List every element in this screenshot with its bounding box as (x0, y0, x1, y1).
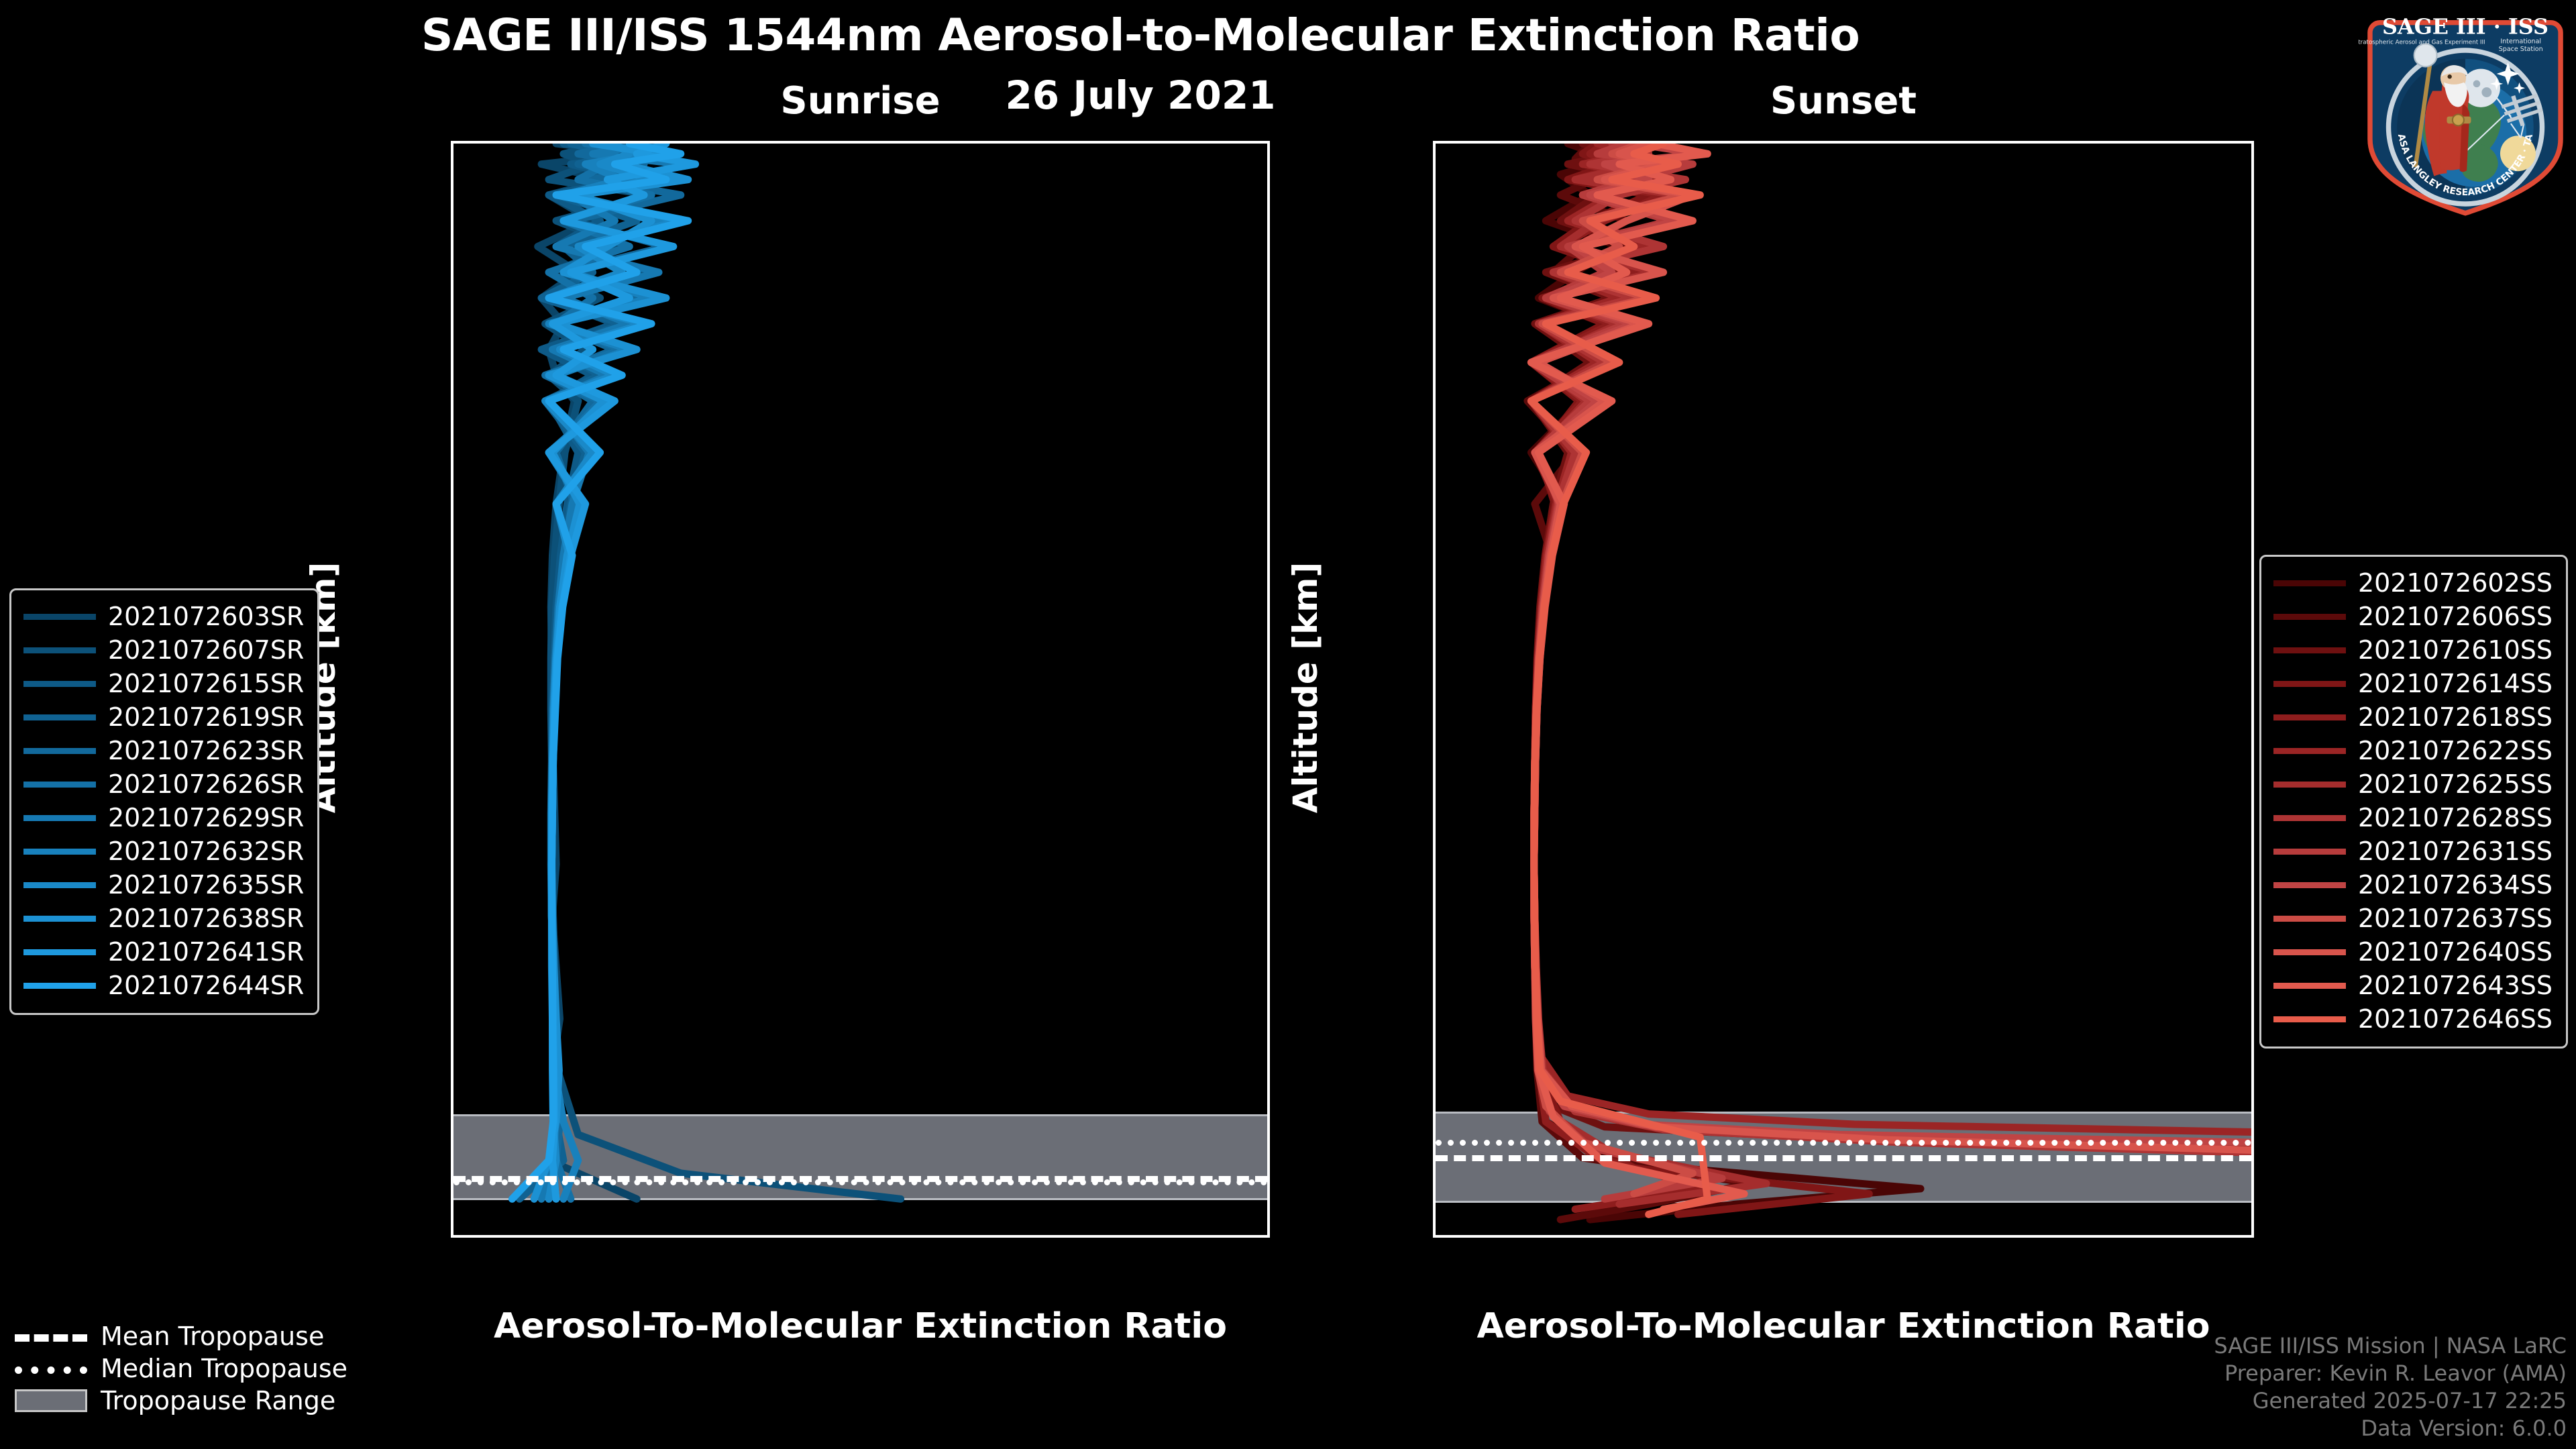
legend-item-label: 2021072606SS (2358, 602, 2553, 631)
legend-item[interactable]: 2021072634SS (2273, 868, 2553, 902)
x-tick-mark (680, 1235, 682, 1238)
legend-color-swatch (2273, 748, 2346, 754)
legend-item[interactable]: 2021072626SR (23, 767, 304, 801)
credit-data-version: Data Version: 6.0.0 (2214, 1415, 2567, 1442)
legend-color-swatch (2273, 849, 2346, 855)
legend-item-label: 2021072610SS (2358, 635, 2553, 665)
legend-item[interactable]: 2021072637SS (2273, 902, 2553, 935)
logo-title: SAGE III · ISS (2382, 15, 2548, 40)
credit-preparer: Preparer: Kevin R. Leavor (AMA) (2214, 1360, 2567, 1387)
credits-block: SAGE III/ISS Mission | NASA LaRC Prepare… (2214, 1332, 2567, 1442)
legend-item[interactable]: 2021072615SR (23, 667, 304, 700)
legend-item[interactable]: 2021072602SS (2273, 566, 2553, 600)
y-tick-mark (1433, 142, 1436, 145)
mean-tropopause-line (1436, 1155, 2251, 1161)
legend-color-swatch (2273, 916, 2346, 922)
mean-tropopause-swatch (15, 1330, 87, 1343)
legend-color-swatch (23, 949, 96, 955)
legend-sunrise-events[interactable]: 2021072603SR2021072607SR2021072615SR2021… (9, 588, 319, 1015)
y-tick-mark (451, 529, 453, 531)
legend-item-label: 2021072635SR (108, 870, 304, 900)
legend-color-swatch (23, 882, 96, 888)
panel-label-sunset: Sunset (1433, 79, 2254, 123)
legend-item-label: 2021072623SR (108, 736, 304, 765)
tropopause-range-label: Tropopause Range (101, 1386, 335, 1415)
logo-subtitle-left: Stratospheric Aerosol and Gas Experiment… (2359, 39, 2485, 46)
y-axis-label-sunset: Altitude [km] (1286, 500, 1325, 875)
legend-item-label: 2021072631SS (2358, 837, 2553, 866)
legend-item[interactable]: 2021072629SR (23, 801, 304, 835)
tropopause-legend-item: Median Tropopause (15, 1352, 347, 1385)
x-tick-mark (1119, 1235, 1122, 1238)
legend-item[interactable]: 2021072614SS (2273, 667, 2553, 700)
profile-curves (1436, 144, 2251, 1235)
legend-item-label: 2021072632SR (108, 837, 304, 866)
y-tick-mark (451, 271, 453, 274)
legend-item-label: 2021072619SR (108, 702, 304, 732)
legend-item-label: 2021072646SS (2358, 1004, 2553, 1034)
legend-item-label: 2021072615SR (108, 669, 304, 698)
series-line (545, 144, 901, 1199)
y-tick-mark (451, 142, 453, 145)
median-tropopause-label: Median Tropopause (101, 1354, 347, 1383)
legend-item[interactable]: 2021072623SR (23, 734, 304, 767)
profile-curves (453, 144, 1267, 1235)
y-tick-mark (1433, 657, 1436, 659)
legend-color-swatch (2273, 1016, 2346, 1022)
x-tick-mark (1662, 1235, 1665, 1238)
legend-color-swatch (23, 647, 96, 653)
legend-color-swatch (23, 748, 96, 754)
legend-item[interactable]: 2021072646SS (2273, 1002, 2553, 1036)
legend-item-label: 2021072602SS (2358, 568, 2553, 598)
y-tick-mark (1433, 1172, 1436, 1175)
legend-color-swatch (2273, 580, 2346, 586)
legend-color-swatch (23, 714, 96, 720)
legend-color-swatch (23, 849, 96, 855)
y-tick-mark (1433, 400, 1436, 402)
legend-item-label: 2021072625SS (2358, 769, 2553, 799)
legend-item[interactable]: 2021072640SS (2273, 935, 2553, 969)
legend-item[interactable]: 2021072638SR (23, 902, 304, 935)
legend-item[interactable]: 2021072610SS (2273, 633, 2553, 667)
y-tick-mark (1433, 529, 1436, 531)
legend-item[interactable]: 2021072632SR (23, 835, 304, 868)
legend-color-swatch (2273, 983, 2346, 989)
legend-item-label: 2021072603SR (108, 602, 304, 631)
median-tropopause-swatch (15, 1362, 87, 1375)
legend-color-swatch (23, 815, 96, 821)
legend-item-label: 2021072622SS (2358, 736, 2553, 765)
legend-item-label: 2021072640SS (2358, 937, 2553, 967)
y-tick-mark (1433, 1043, 1436, 1046)
x-axis-label-sunset: Aerosol-To-Molecular Extinction Ratio (1433, 1306, 2254, 1346)
median-tropopause-line (453, 1179, 1267, 1185)
x-tick-mark (1956, 1235, 1959, 1238)
legend-item-label: 2021072638SR (108, 904, 304, 933)
legend-item-label: 2021072629SR (108, 803, 304, 833)
legend-item[interactable]: 2021072607SR (23, 633, 304, 667)
legend-item[interactable]: 2021072631SS (2273, 835, 2553, 868)
legend-item-label: 2021072614SS (2358, 669, 2553, 698)
legend-item[interactable]: 2021072603SR (23, 600, 304, 633)
legend-color-swatch (2273, 614, 2346, 620)
x-tick-mark (2250, 1235, 2253, 1238)
y-tick-mark (451, 657, 453, 659)
x-tick-mark (2103, 1235, 2106, 1238)
tropopause-legend-item: Mean Tropopause (15, 1320, 347, 1352)
logo-subtitle-right-1: International (2500, 38, 2541, 45)
legend-sunset-events[interactable]: 2021072602SS2021072606SS2021072610SS2021… (2259, 555, 2568, 1049)
plot-area-sunset: 101520253035404550020406080100 (1433, 141, 2254, 1238)
tropopause-legend-item: Tropopause Range (15, 1385, 347, 1417)
legend-color-swatch (2273, 714, 2346, 720)
y-tick-mark (451, 914, 453, 917)
legend-item[interactable]: 2021072622SS (2273, 734, 2553, 767)
legend-color-swatch (2273, 815, 2346, 821)
legend-item[interactable]: 2021072643SS (2273, 969, 2553, 1002)
legend-item-label: 2021072618SS (2358, 702, 2553, 732)
x-tick-mark (533, 1235, 535, 1238)
legend-color-swatch (2273, 882, 2346, 888)
y-tick-mark (1433, 271, 1436, 274)
x-tick-mark (1515, 1235, 1518, 1238)
credit-generated: Generated 2025-07-17 22:25 (2214, 1387, 2567, 1415)
legend-item[interactable]: 2021072606SS (2273, 600, 2553, 633)
legend-tropopause: Mean TropopauseMedian TropopauseTropopau… (15, 1320, 347, 1417)
legend-item[interactable]: 2021072641SR (23, 935, 304, 969)
legend-color-swatch (23, 681, 96, 687)
y-tick-mark (1433, 914, 1436, 917)
legend-color-swatch (23, 782, 96, 788)
logo-subtitle-right-2: Space Station (2499, 46, 2543, 53)
legend-item-label: 2021072628SS (2358, 803, 2553, 833)
y-tick-mark (451, 1172, 453, 1175)
x-tick-mark (1809, 1235, 1812, 1238)
legend-item-label: 2021072626SR (108, 769, 304, 799)
figure-root: SAGE III/ISS 1544nm Aerosol-to-Molecular… (0, 0, 2576, 1449)
y-tick-mark (451, 786, 453, 788)
legend-item-label: 2021072644SR (108, 971, 304, 1000)
mean-tropopause-label: Mean Tropopause (101, 1322, 324, 1351)
credit-mission: SAGE III/ISS Mission | NASA LaRC (2214, 1332, 2567, 1360)
legend-color-swatch (23, 916, 96, 922)
x-tick-mark (973, 1235, 975, 1238)
legend-item-label: 2021072641SR (108, 937, 304, 967)
legend-item[interactable]: 2021072618SS (2273, 700, 2553, 734)
legend-item[interactable]: 2021072628SS (2273, 801, 2553, 835)
legend-item[interactable]: 2021072635SR (23, 868, 304, 902)
legend-item-label: 2021072607SR (108, 635, 304, 665)
legend-color-swatch (23, 983, 96, 989)
y-tick-mark (451, 400, 453, 402)
y-tick-mark (1433, 786, 1436, 788)
legend-color-swatch (2273, 782, 2346, 788)
legend-item[interactable]: 2021072625SS (2273, 767, 2553, 801)
x-axis-label-sunrise: Aerosol-To-Molecular Extinction Ratio (451, 1306, 1270, 1346)
tropopause-range-swatch (15, 1389, 87, 1412)
legend-color-swatch (23, 614, 96, 620)
legend-item-label: 2021072643SS (2358, 971, 2553, 1000)
legend-color-swatch (2273, 681, 2346, 687)
legend-color-swatch (2273, 647, 2346, 653)
panel-label-sunrise: Sunrise (451, 79, 1270, 123)
x-tick-mark (826, 1235, 828, 1238)
legend-color-swatch (2273, 949, 2346, 955)
x-tick-mark (1266, 1235, 1269, 1238)
legend-item[interactable]: 2021072619SR (23, 700, 304, 734)
figure-title: SAGE III/ISS 1544nm Aerosol-to-Molecular… (0, 9, 2281, 61)
legend-item-label: 2021072637SS (2358, 904, 2553, 933)
sage-iii-iss-logo: SAGE III · ISS Stratospheric Aerosol and… (2359, 3, 2572, 216)
plot-area-sunrise: 101520253035404550020406080100 (451, 141, 1270, 1238)
median-tropopause-line (1436, 1140, 2251, 1146)
legend-item[interactable]: 2021072644SR (23, 969, 304, 1002)
y-tick-mark (451, 1043, 453, 1046)
legend-item-label: 2021072634SS (2358, 870, 2553, 900)
